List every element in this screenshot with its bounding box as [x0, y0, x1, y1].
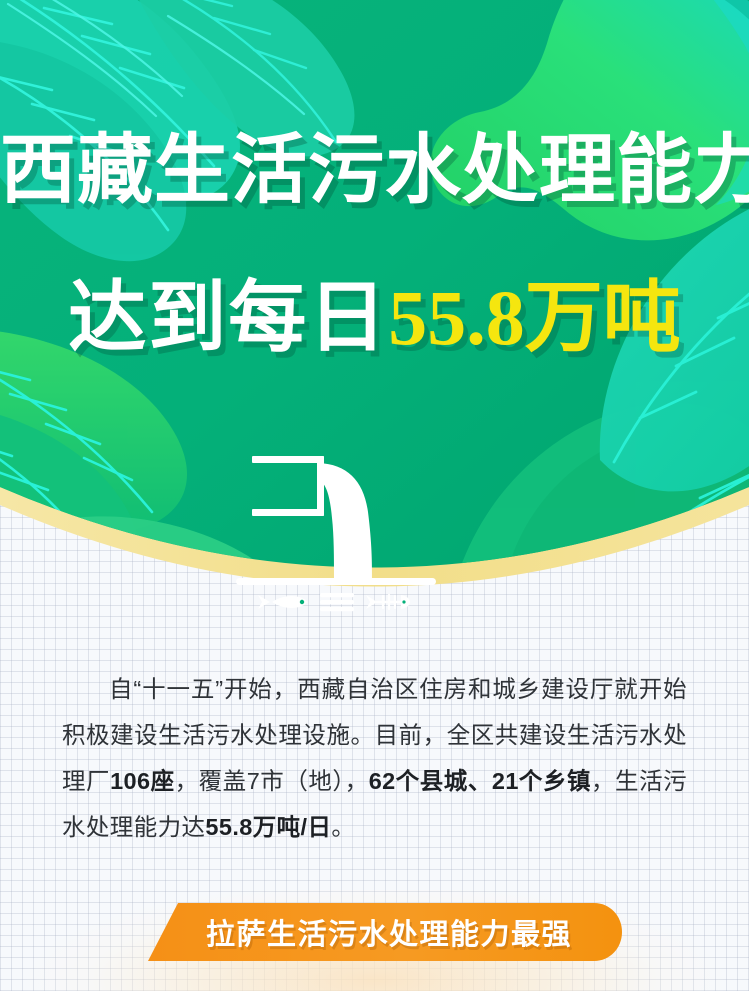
fish-skeleton-icon — [366, 595, 410, 609]
body-paragraph: 自“十一五”开始，西藏自治区住房和城乡建设厅就开始积极建设生活污水处理设施。目前… — [62, 666, 687, 850]
body-text: ，覆盖7市（地）， — [175, 768, 369, 794]
body-emphasis: 62个县城、21个乡镇 — [369, 768, 591, 794]
discharge-pipe-outline — [252, 456, 324, 516]
banner-label: 拉萨生活污水处理能力最强 — [148, 903, 622, 961]
sewage-outfall-icon — [236, 440, 436, 620]
water-surface-line — [236, 578, 436, 585]
water-ripple-bars — [320, 593, 354, 611]
body-text-block: 自“十一五”开始，西藏自治区住房和城乡建设厅就开始积极建设生活污水处理设施。目前… — [0, 666, 749, 850]
body-emphasis: 106座 — [110, 768, 175, 794]
infographic-poster: 西藏生活污水处理能力 达到每日55.8万吨 — [0, 0, 749, 991]
body-emphasis: 55.8万吨/日 — [205, 814, 331, 840]
fish-icon — [258, 595, 308, 609]
body-text: 。 — [331, 814, 355, 840]
water-jet — [318, 463, 372, 580]
highlight-banner[interactable]: 拉萨生活污水处理能力最强 — [148, 903, 622, 961]
